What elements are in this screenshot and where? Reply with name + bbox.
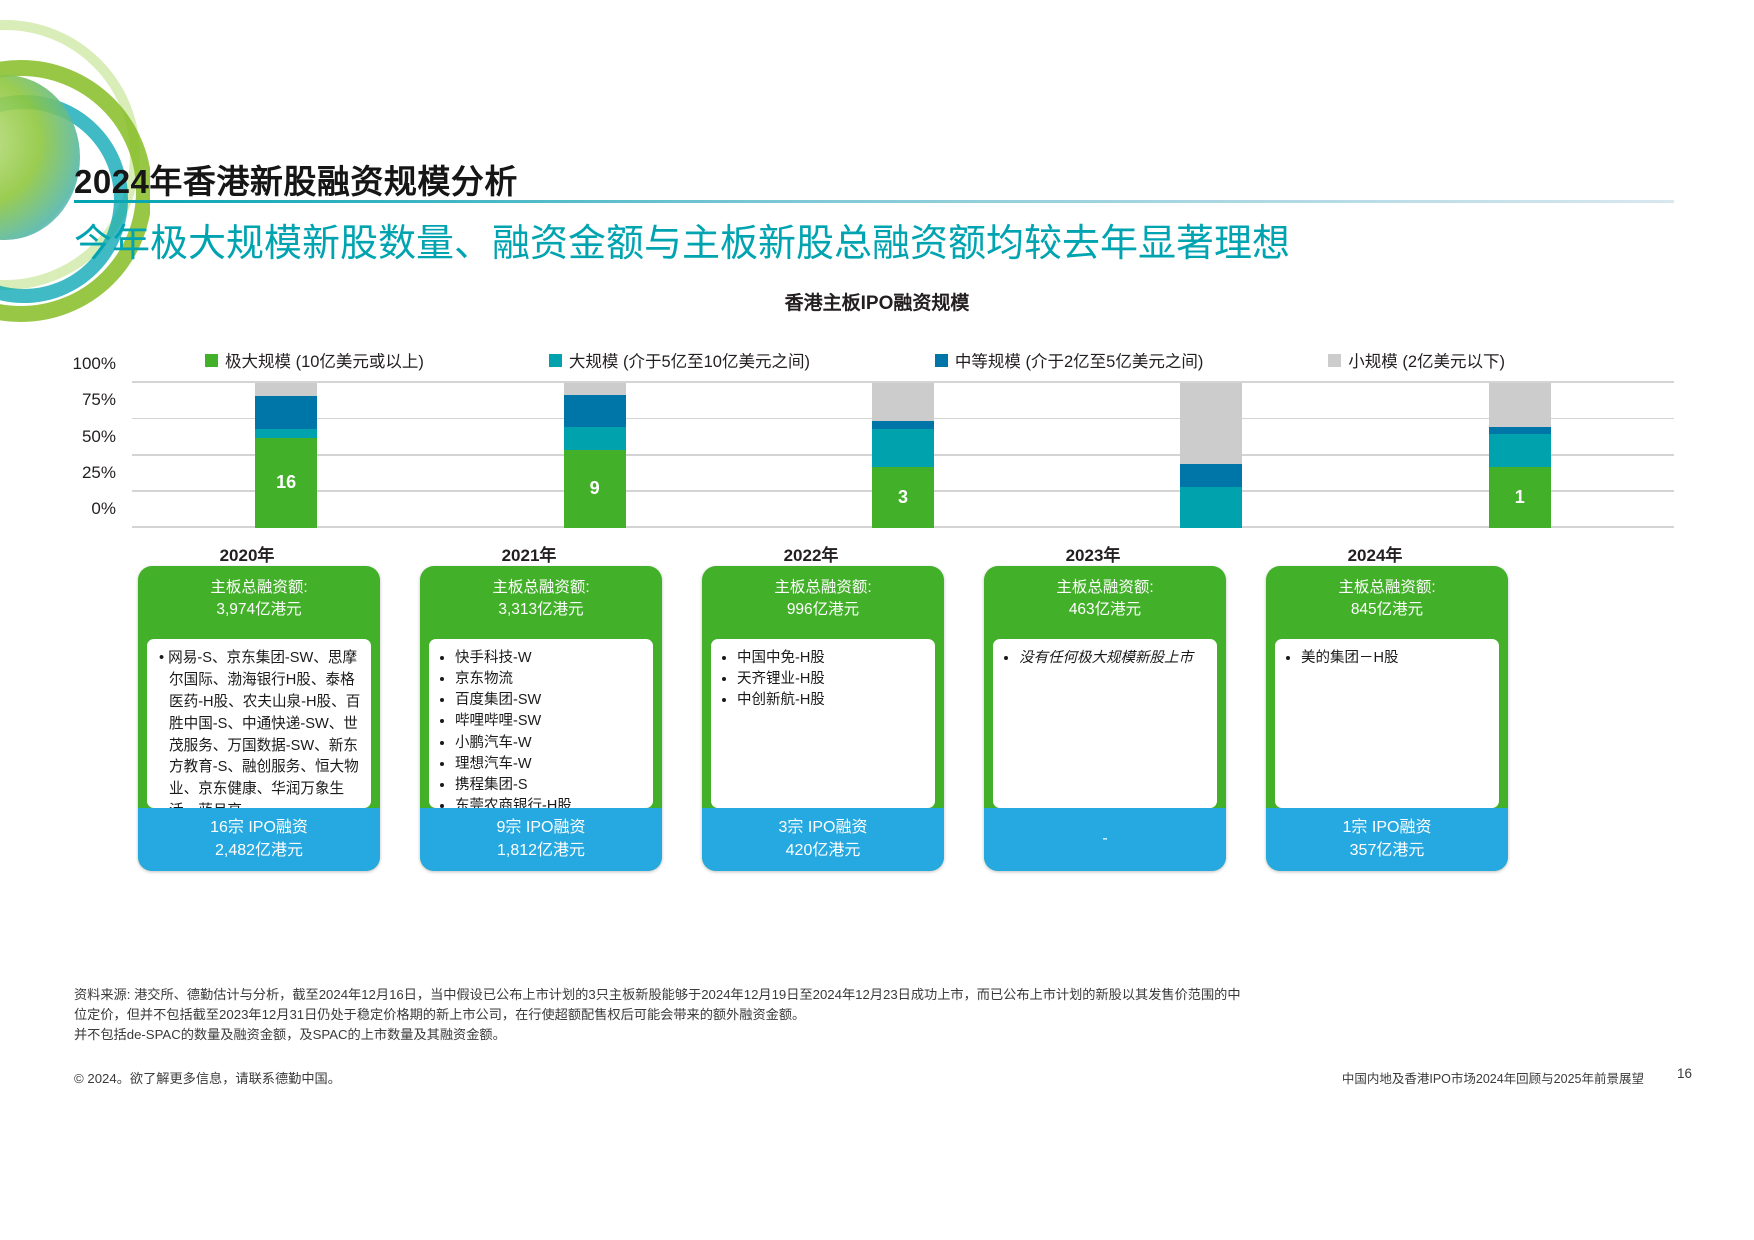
list-item: 理想汽车‐W — [455, 754, 643, 775]
bar-value-label: 1 — [1489, 487, 1551, 508]
x-axis-label-2023年: 2023年 — [978, 541, 1208, 566]
header-divider — [74, 200, 1674, 203]
list-item: 快手科技‐W — [455, 648, 643, 669]
y-axis-tick-label: 100% — [73, 354, 116, 374]
card-ipo-count: 16宗 IPO融资 — [210, 817, 308, 839]
source-note-line-3: 并不包括de-SPAC的数量及融资金额，及SPAC的上市数量及其融资金额。 — [74, 1025, 1674, 1045]
card-total-label: 主板总融资额: — [708, 577, 938, 599]
card-total-value: 996亿港元 — [708, 599, 938, 621]
card-ipo-count: - — [1102, 828, 1107, 850]
card-company-list: 没有任何极大规模新股上市 — [993, 639, 1217, 808]
legend-label: 中等规模 (介于2亿至5亿美元之间) — [955, 348, 1203, 372]
bar-segment — [872, 421, 934, 430]
bar-segment — [1489, 383, 1551, 427]
x-axis-label-2021年: 2021年 — [414, 541, 644, 566]
bar-segment — [1180, 383, 1242, 464]
card-ipo-amount: 2,482亿港元 — [215, 840, 303, 862]
page-subtitle: 今年极大规模新股数量、融资金额与主板新股总融资额均较去年显著理想 — [74, 212, 1290, 267]
bar-segment — [255, 383, 317, 396]
card-ipo-count: 1宗 IPO融资 — [1343, 817, 1432, 839]
card-total-value: 463亿港元 — [990, 599, 1220, 621]
legend-item-3: 小规模 (2亿美元以下) — [1328, 348, 1505, 372]
bar-segment — [1180, 487, 1242, 528]
card-total-header: 主板总融资额:3,313亿港元 — [420, 566, 662, 631]
list-item: • 网易‐S、京东集团‐SW、思摩尔国际、渤海银行H股、泰格医药‐H股、农夫山泉… — [157, 648, 361, 808]
card-ipo-summary: 3宗 IPO融资420亿港元 — [702, 808, 944, 871]
bar-segment — [564, 427, 626, 450]
year-card-2021年[interactable]: 主板总融资额:3,313亿港元快手科技‐W京东物流百度集团‐SW哔哩哔哩‐SW小… — [420, 566, 662, 871]
card-ipo-summary: - — [984, 808, 1226, 871]
card-total-label: 主板总融资额: — [990, 577, 1220, 599]
company-list: 快手科技‐W京东物流百度集团‐SW哔哩哔哩‐SW小鹏汽车‐W理想汽车‐W携程集团… — [439, 648, 643, 808]
document-footer-title: 中国内地及香港IPO市场2024年回顾与2025年前景展望 — [1342, 1068, 1644, 1087]
source-note-line-1: 资料来源: 港交所、德勤估计与分析，截至2024年12月16日，当中假设已公布上… — [74, 985, 1674, 1005]
page-title: 2024年香港新股融资规模分析 — [74, 155, 518, 203]
card-ipo-amount: 420亿港元 — [786, 840, 861, 862]
x-axis-label-2024年: 2024年 — [1260, 541, 1490, 566]
card-ipo-amount: 1,812亿港元 — [497, 840, 585, 862]
bar-segment: 3 — [872, 467, 934, 528]
legend-swatch-icon — [205, 354, 218, 367]
legend-label: 极大规模 (10亿美元或以上) — [225, 348, 424, 372]
bar-2023年[interactable] — [1180, 383, 1242, 528]
card-company-list: 美的集团－H股 — [1275, 639, 1499, 808]
y-axis-tick-label: 75% — [82, 390, 116, 410]
bar-segment: 16 — [255, 438, 317, 528]
card-total-header: 主板总融资额:996亿港元 — [702, 566, 944, 631]
bar-segment — [872, 383, 934, 421]
bar-value-label: 3 — [872, 487, 934, 508]
card-total-value: 3,313亿港元 — [426, 599, 656, 621]
card-ipo-summary: 9宗 IPO融资1,812亿港元 — [420, 808, 662, 871]
chart-plot-area: 0%25%50%75%100%16931 — [132, 383, 1674, 528]
card-total-value: 3,974亿港元 — [144, 599, 374, 621]
card-company-list: • 网易‐S、京东集团‐SW、思摩尔国际、渤海银行H股、泰格医药‐H股、农夫山泉… — [147, 639, 371, 808]
y-axis-tick-label: 25% — [82, 463, 116, 483]
bar-segment — [1489, 434, 1551, 467]
source-notes: 资料来源: 港交所、德勤估计与分析，截至2024年12月16日，当中假设已公布上… — [74, 985, 1674, 1044]
bar-segment — [1180, 464, 1242, 487]
legend-item-2: 中等规模 (介于2亿至5亿美元之间) — [935, 348, 1203, 372]
bar-2022年[interactable]: 3 — [872, 383, 934, 528]
bar-2021年[interactable]: 9 — [564, 383, 626, 528]
list-item: 携程集团‐S — [455, 775, 643, 796]
copyright-text: © 2024。欲了解更多信息，请联系德勤中国。 — [74, 1068, 341, 1087]
card-total-label: 主板总融资额: — [426, 577, 656, 599]
bar-segment: 1 — [1489, 467, 1551, 528]
bar-segment — [255, 396, 317, 429]
bar-segment — [872, 429, 934, 467]
legend-item-0: 极大规模 (10亿美元或以上) — [205, 348, 424, 372]
x-axis-label-2022年: 2022年 — [696, 541, 926, 566]
legend-swatch-icon — [549, 354, 562, 367]
year-card-2020年[interactable]: 主板总融资额:3,974亿港元• 网易‐S、京东集团‐SW、思摩尔国际、渤海银行… — [138, 566, 380, 871]
list-item: 京东物流 — [455, 669, 643, 690]
year-card-2022年[interactable]: 主板总融资额:996亿港元中国中免‐H股天齐锂业‐H股中创新航‐H股3宗 IPO… — [702, 566, 944, 871]
page-number: 16 — [1677, 1066, 1692, 1081]
card-ipo-amount: 357亿港元 — [1350, 840, 1425, 862]
card-total-header: 主板总融资额:845亿港元 — [1266, 566, 1508, 631]
list-item: 中国中免‐H股 — [737, 648, 925, 669]
list-item: 没有任何极大规模新股上市 — [1019, 648, 1207, 669]
list-item: 哔哩哔哩‐SW — [455, 711, 643, 732]
card-ipo-count: 3宗 IPO融资 — [779, 817, 868, 839]
list-item: 天齐锂业‐H股 — [737, 669, 925, 690]
list-item: 百度集团‐SW — [455, 690, 643, 711]
card-total-header: 主板总融资额:3,974亿港元 — [138, 566, 380, 631]
bar-2020年[interactable]: 16 — [255, 383, 317, 528]
list-item: 小鹏汽车‐W — [455, 733, 643, 754]
legend-swatch-icon — [935, 354, 948, 367]
card-company-list: 中国中免‐H股天齐锂业‐H股中创新航‐H股 — [711, 639, 935, 808]
company-list: 中国中免‐H股天齐锂业‐H股中创新航‐H股 — [721, 648, 925, 711]
x-axis-label-2020年: 2020年 — [132, 541, 362, 566]
legend-label: 大规模 (介于5亿至10亿美元之间) — [569, 348, 810, 372]
bar-segment — [564, 383, 626, 395]
chart-legend: 极大规模 (10亿美元或以上)大规模 (介于5亿至10亿美元之间)中等规模 (介… — [205, 348, 1505, 372]
card-ipo-summary: 16宗 IPO融资2,482亿港元 — [138, 808, 380, 871]
legend-swatch-icon — [1328, 354, 1341, 367]
legend-item-1: 大规模 (介于5亿至10亿美元之间) — [549, 348, 810, 372]
card-ipo-summary: 1宗 IPO融资357亿港元 — [1266, 808, 1508, 871]
card-total-header: 主板总融资额:463亿港元 — [984, 566, 1226, 631]
card-total-value: 845亿港元 — [1272, 599, 1502, 621]
company-list: 没有任何极大规模新股上市 — [1003, 648, 1207, 669]
bar-segment — [255, 429, 317, 438]
bar-value-label: 16 — [255, 472, 317, 493]
source-note-line-2: 位定价，但并不包括截至2023年12月31日仍处于稳定价格期的新上市公司，在行使… — [74, 1005, 1674, 1025]
y-axis-tick-label: 0% — [91, 499, 116, 519]
card-total-label: 主板总融资额: — [1272, 577, 1502, 599]
bar-segment — [1489, 427, 1551, 434]
year-card-2023年[interactable]: 主板总融资额:463亿港元没有任何极大规模新股上市- — [984, 566, 1226, 871]
bar-segment — [564, 395, 626, 426]
card-company-list: 快手科技‐W京东物流百度集团‐SW哔哩哔哩‐SW小鹏汽车‐W理想汽车‐W携程集团… — [429, 639, 653, 808]
card-ipo-count: 9宗 IPO融资 — [497, 817, 586, 839]
list-item: 东莞农商银行‐H股 — [455, 796, 643, 808]
y-axis-tick-label: 50% — [82, 427, 116, 447]
bar-segment: 9 — [564, 450, 626, 528]
list-item: 美的集团－H股 — [1301, 648, 1489, 669]
bar-2024年[interactable]: 1 — [1489, 383, 1551, 528]
year-card-2024年[interactable]: 主板总融资额:845亿港元美的集团－H股1宗 IPO融资357亿港元 — [1266, 566, 1508, 871]
list-item: 中创新航‐H股 — [737, 690, 925, 711]
legend-label: 小规模 (2亿美元以下) — [1348, 348, 1505, 372]
company-list: 美的集团－H股 — [1285, 648, 1489, 669]
chart-title: 香港主板IPO融资规模 — [0, 288, 1754, 315]
card-total-label: 主板总融资额: — [144, 577, 374, 599]
bar-value-label: 9 — [564, 478, 626, 499]
